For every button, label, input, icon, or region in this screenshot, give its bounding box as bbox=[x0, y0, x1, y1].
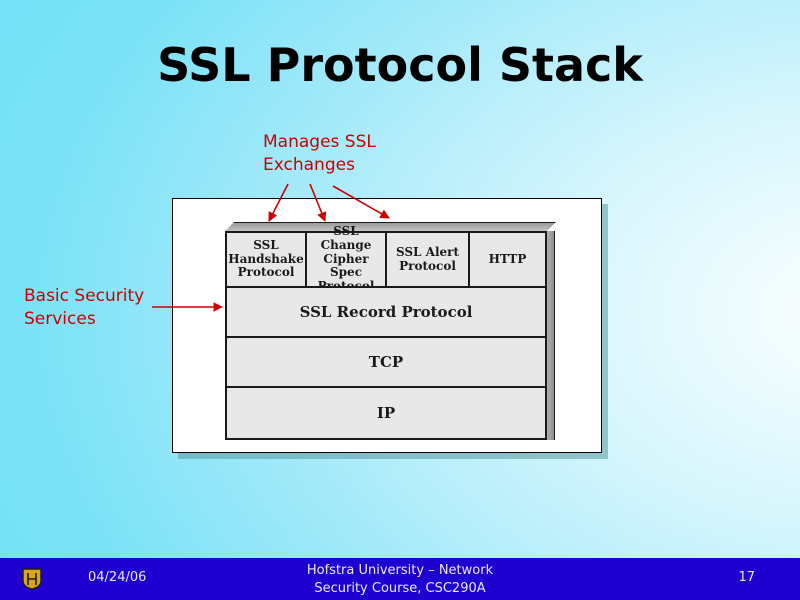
page-title: SSL Protocol Stack bbox=[0, 42, 800, 88]
stack-right-face bbox=[546, 231, 555, 440]
stack-row-ip: IP bbox=[227, 388, 545, 438]
label-ip: IP bbox=[227, 404, 545, 422]
label-ssl-record-protocol: SSL Record Protocol bbox=[227, 303, 545, 321]
cell-http: HTTP bbox=[470, 233, 545, 286]
footer-course-text: Hofstra University – Network Security Co… bbox=[0, 562, 800, 597]
cell-ssl-change-cipher-spec-protocol: SSL Change Cipher Spec Protocol bbox=[307, 233, 387, 286]
label-tcp: TCP bbox=[227, 353, 545, 371]
slide: SSL Protocol Stack Manages SSL Exchanges… bbox=[0, 0, 800, 600]
cell-ssl-alert-protocol: SSL Alert Protocol bbox=[387, 233, 470, 286]
annotation-manages-ssl-exchanges: Manages SSL Exchanges bbox=[263, 131, 376, 177]
stack-row-protocols: SSL Handshake Protocol SSL Change Cipher… bbox=[227, 233, 545, 288]
slide-footer: 04/24/06 Hofstra University – Network Se… bbox=[0, 558, 800, 600]
stack-front-face: SSL Handshake Protocol SSL Change Cipher… bbox=[225, 231, 547, 440]
stack-row-tcp: TCP bbox=[227, 338, 545, 388]
stack-row-ssl-record-protocol: SSL Record Protocol bbox=[227, 288, 545, 338]
annotation-basic-security-services: Basic Security Services bbox=[24, 285, 144, 331]
cell-ssl-handshake-protocol: SSL Handshake Protocol bbox=[227, 233, 307, 286]
stack-top-face bbox=[225, 222, 556, 231]
footer-page-number: 17 bbox=[738, 570, 755, 585]
ssl-protocol-stack-diagram: SSL Handshake Protocol SSL Change Cipher… bbox=[225, 222, 555, 440]
